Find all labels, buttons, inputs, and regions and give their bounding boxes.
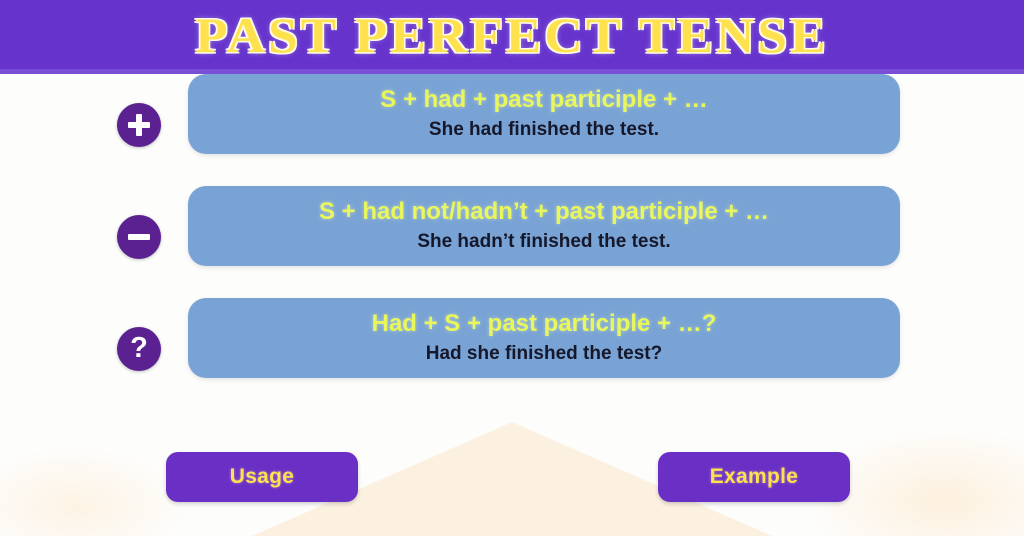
tense-row-negative: S + had not/hadn’t + past participle + …… bbox=[0, 186, 1024, 298]
structure-card-affirmative: S + had + past participle + … She had fi… bbox=[188, 74, 900, 154]
example-text: Had she finished the test? bbox=[426, 342, 662, 366]
example-text: She had finished the test. bbox=[429, 118, 659, 142]
minus-icon bbox=[117, 215, 161, 259]
tense-row-interrogative: ? Had + S + past participle + …? Had she… bbox=[0, 298, 1024, 410]
header-underline bbox=[0, 69, 1024, 74]
structure-card-interrogative: Had + S + past participle + …? Had she f… bbox=[188, 298, 900, 378]
footer-button-bar: Usage Example bbox=[0, 452, 1024, 504]
tense-row-affirmative: S + had + past participle + … She had fi… bbox=[0, 74, 1024, 186]
example-text: She hadn’t finished the test. bbox=[417, 230, 670, 254]
question-mark-icon: ? bbox=[117, 327, 161, 371]
plus-icon bbox=[117, 103, 161, 147]
minus-glyph bbox=[128, 226, 150, 248]
usage-button[interactable]: Usage bbox=[166, 452, 358, 502]
structure-card-negative: S + had not/hadn’t + past participle + …… bbox=[188, 186, 900, 266]
formula-text: S + had not/hadn’t + past participle + … bbox=[319, 198, 769, 226]
example-button[interactable]: Example bbox=[658, 452, 850, 502]
formula-text: S + had + past participle + … bbox=[380, 86, 707, 114]
plus-glyph bbox=[128, 114, 150, 136]
infographic-page: PAST PERFECT TENSE S + had + past partic… bbox=[0, 0, 1024, 536]
header-banner: PAST PERFECT TENSE bbox=[0, 0, 1024, 69]
question-glyph: ? bbox=[130, 334, 148, 363]
tense-structure-list: S + had + past participle + … She had fi… bbox=[0, 74, 1024, 410]
formula-text: Had + S + past participle + …? bbox=[372, 310, 717, 338]
page-title: PAST PERFECT TENSE bbox=[195, 6, 829, 64]
